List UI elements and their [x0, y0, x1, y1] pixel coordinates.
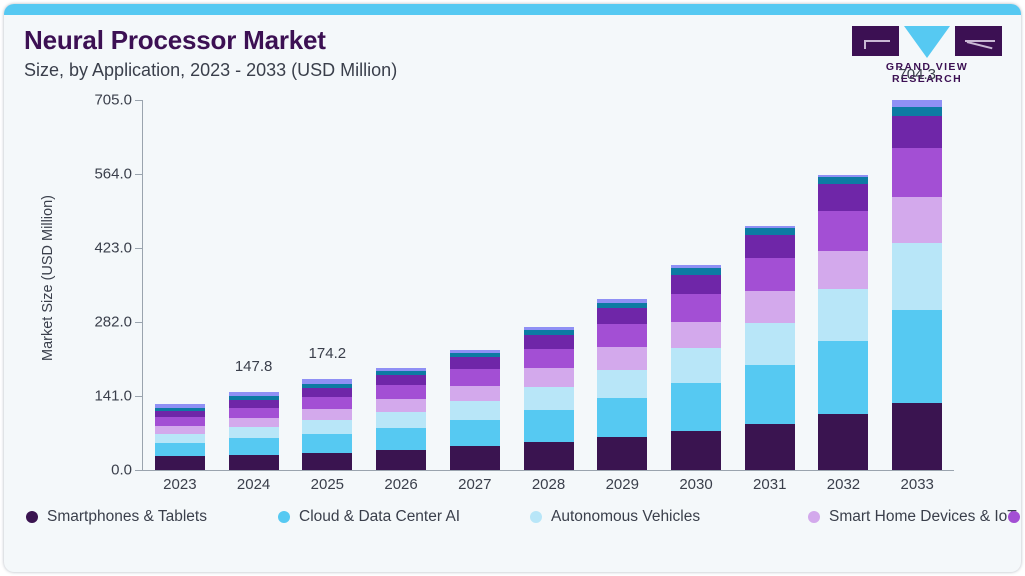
- bar-segment[interactable]: [450, 357, 500, 369]
- bar-series-group: 147.8174.2704.3: [143, 100, 954, 470]
- bar-segment[interactable]: [450, 420, 500, 446]
- bar-segment[interactable]: [302, 409, 352, 421]
- y-axis-tick-label: 141.0: [94, 388, 132, 405]
- x-axis-tick-label: 2028: [512, 476, 586, 493]
- y-axis-tick-mark: [135, 248, 142, 249]
- bar-segment[interactable]: [450, 386, 500, 402]
- bar-segment[interactable]: [597, 437, 647, 470]
- bar-segment[interactable]: [302, 397, 352, 409]
- bar-segment[interactable]: [376, 450, 426, 470]
- stacked-bar[interactable]: [597, 299, 647, 470]
- bar-segment[interactable]: [229, 418, 279, 428]
- y-axis-tick-mark: [135, 100, 142, 101]
- legend-color-swatch-icon: [530, 511, 542, 523]
- bar-group[interactable]: [364, 100, 438, 470]
- stacked-bar[interactable]: [302, 379, 352, 470]
- bar-segment[interactable]: [229, 427, 279, 438]
- bar-segment[interactable]: [450, 369, 500, 385]
- legend-label: Autonomous Vehicles: [551, 508, 700, 526]
- x-axis-tick-label: 2032: [807, 476, 881, 493]
- bar-segment[interactable]: [745, 228, 795, 235]
- bar-segment[interactable]: [229, 400, 279, 408]
- stacked-bar[interactable]: [155, 404, 205, 470]
- legend-label: Smartphones & Tablets: [47, 508, 207, 526]
- x-axis-tick-label: 2027: [438, 476, 512, 493]
- bar-group[interactable]: 174.2: [290, 100, 364, 470]
- y-axis-tick-mark: [135, 322, 142, 323]
- bar-group[interactable]: [585, 100, 659, 470]
- bar-segment[interactable]: [155, 456, 205, 470]
- bar-value-label: 174.2: [309, 345, 347, 362]
- legend-color-swatch-icon: [1008, 511, 1020, 523]
- bar-segment[interactable]: [155, 443, 205, 457]
- bar-group[interactable]: [733, 100, 807, 470]
- chart-card: Neural Processor Market Size, by Applica…: [4, 4, 1021, 572]
- bar-segment[interactable]: [671, 322, 721, 349]
- x-axis-tick-label: 2024: [217, 476, 291, 493]
- bar-segment[interactable]: [892, 310, 942, 402]
- x-axis-tick-label: 2029: [585, 476, 659, 493]
- legend-color-swatch-icon: [808, 511, 820, 523]
- bar-segment[interactable]: [892, 107, 942, 116]
- x-axis-tick-label: 2033: [880, 476, 954, 493]
- chart-legend: Smartphones & TabletsCloud & Data Center…: [26, 504, 1006, 530]
- bar-segment[interactable]: [818, 211, 868, 251]
- bar-segment[interactable]: [376, 412, 426, 428]
- bar-segment[interactable]: [818, 184, 868, 211]
- x-axis-ticks: 2023202420252026202720282029203020312032…: [143, 476, 954, 493]
- legend-item[interactable]: Smartphones & Tablets: [26, 508, 278, 526]
- bar-segment[interactable]: [302, 388, 352, 397]
- bar-segment[interactable]: [155, 417, 205, 425]
- bar-segment[interactable]: [597, 370, 647, 398]
- stacked-bar[interactable]: [892, 100, 942, 470]
- bar-segment[interactable]: [818, 177, 868, 184]
- bar-segment[interactable]: [818, 289, 868, 341]
- bar-segment[interactable]: [745, 235, 795, 258]
- bar-segment[interactable]: [597, 347, 647, 370]
- bar-segment[interactable]: [892, 148, 942, 197]
- stacked-bar[interactable]: [745, 226, 795, 470]
- bar-group[interactable]: [512, 100, 586, 470]
- bar-segment[interactable]: [524, 368, 574, 387]
- x-axis-tick-label: 2025: [290, 476, 364, 493]
- bar-group[interactable]: 704.3: [880, 100, 954, 470]
- bar-segment[interactable]: [597, 398, 647, 437]
- bar-segment[interactable]: [671, 383, 721, 431]
- bar-segment[interactable]: [892, 197, 942, 244]
- chart-header: Neural Processor Market Size, by Applica…: [24, 26, 724, 81]
- bar-group[interactable]: 147.8: [217, 100, 291, 470]
- bar-value-label: 147.8: [235, 358, 273, 375]
- bar-segment[interactable]: [818, 414, 868, 470]
- bar-segment[interactable]: [524, 442, 574, 470]
- bar-segment[interactable]: [376, 375, 426, 385]
- y-axis-tick-label: 282.0: [94, 314, 132, 331]
- bar-segment[interactable]: [524, 410, 574, 442]
- bar-segment[interactable]: [155, 434, 205, 443]
- x-axis-line: [142, 470, 954, 471]
- logo-mark: [851, 26, 1003, 56]
- y-axis-tick-label: 705.0: [94, 92, 132, 109]
- plot-area: Market Size (USD Million) 0.0141.0282.04…: [4, 100, 1021, 490]
- top-accent-bar: [4, 4, 1021, 15]
- bar-segment[interactable]: [597, 324, 647, 347]
- bar-segment[interactable]: [818, 341, 868, 414]
- stacked-bar[interactable]: [376, 368, 426, 470]
- bar-group[interactable]: [143, 100, 217, 470]
- x-axis-tick-label: 2031: [733, 476, 807, 493]
- bar-segment[interactable]: [745, 258, 795, 291]
- y-axis-ticks: 0.0141.0282.0423.0564.0705.0: [56, 100, 142, 470]
- bar-segment[interactable]: [302, 453, 352, 470]
- bar-segment[interactable]: [892, 243, 942, 310]
- stacked-bar[interactable]: [450, 350, 500, 470]
- bar-segment[interactable]: [671, 431, 721, 470]
- y-axis-tick-mark: [135, 174, 142, 175]
- legend-item[interactable]: Robotics & Drones: [1008, 508, 1021, 526]
- bar-segment[interactable]: [376, 399, 426, 412]
- stacked-bar[interactable]: [229, 392, 279, 470]
- stacked-bar[interactable]: [524, 327, 574, 470]
- x-axis-tick-label: 2026: [364, 476, 438, 493]
- bar-segment[interactable]: [745, 323, 795, 366]
- bar-segment[interactable]: [892, 403, 942, 470]
- x-axis-tick-label: 2023: [143, 476, 217, 493]
- bar-segment[interactable]: [892, 116, 942, 148]
- bar-group[interactable]: [659, 100, 733, 470]
- page-title: Neural Processor Market: [24, 26, 724, 56]
- bar-group[interactable]: [438, 100, 512, 470]
- bar-segment[interactable]: [229, 408, 279, 418]
- legend-color-swatch-icon: [26, 511, 38, 523]
- bar-segment[interactable]: [671, 348, 721, 383]
- legend-label: Smart Home Devices & IoT: [829, 508, 1017, 526]
- bar-segment[interactable]: [524, 335, 574, 349]
- bar-segment[interactable]: [524, 349, 574, 368]
- bar-value-label: 704.3: [898, 66, 936, 83]
- stacked-bar[interactable]: [818, 175, 868, 470]
- y-axis-tick-mark: [135, 396, 142, 397]
- bar-segment[interactable]: [671, 294, 721, 322]
- bar-segment[interactable]: [671, 275, 721, 294]
- bar-segment[interactable]: [229, 438, 279, 454]
- bar-segment[interactable]: [745, 291, 795, 323]
- bar-segment[interactable]: [818, 251, 868, 289]
- bar-segment[interactable]: [376, 428, 426, 450]
- y-axis-tick-mark: [135, 470, 142, 471]
- legend-item[interactable]: Smart Home Devices & IoT: [808, 508, 1008, 526]
- bar-segment[interactable]: [450, 401, 500, 420]
- logo-v-icon: [904, 26, 950, 58]
- bar-segment[interactable]: [376, 385, 426, 399]
- chart-subtitle: Size, by Application, 2023 - 2033 (USD M…: [24, 60, 724, 82]
- bar-segment[interactable]: [302, 420, 352, 433]
- bar-segment[interactable]: [597, 308, 647, 324]
- bar-segment[interactable]: [524, 387, 574, 410]
- legend-label: Cloud & Data Center AI: [299, 508, 460, 526]
- y-axis-tick-label: 564.0: [94, 166, 132, 183]
- bar-segment[interactable]: [745, 424, 795, 470]
- y-axis-tick-label: 423.0: [94, 240, 132, 257]
- bar-segment[interactable]: [745, 365, 795, 424]
- x-axis-tick-label: 2030: [659, 476, 733, 493]
- logo-g-icon: [852, 26, 899, 56]
- bar-segment[interactable]: [229, 455, 279, 470]
- legend-item[interactable]: Autonomous Vehicles: [530, 508, 808, 526]
- legend-item[interactable]: Cloud & Data Center AI: [278, 508, 530, 526]
- bar-group[interactable]: [807, 100, 881, 470]
- y-axis-title: Market Size (USD Million): [40, 138, 56, 418]
- bar-segment[interactable]: [155, 426, 205, 434]
- bar-segment[interactable]: [450, 446, 500, 470]
- bar-segment[interactable]: [302, 434, 352, 453]
- logo-r-icon: [955, 26, 1002, 56]
- stacked-bar[interactable]: [671, 265, 721, 470]
- y-axis-tick-label: 0.0: [111, 462, 132, 479]
- legend-color-swatch-icon: [278, 511, 290, 523]
